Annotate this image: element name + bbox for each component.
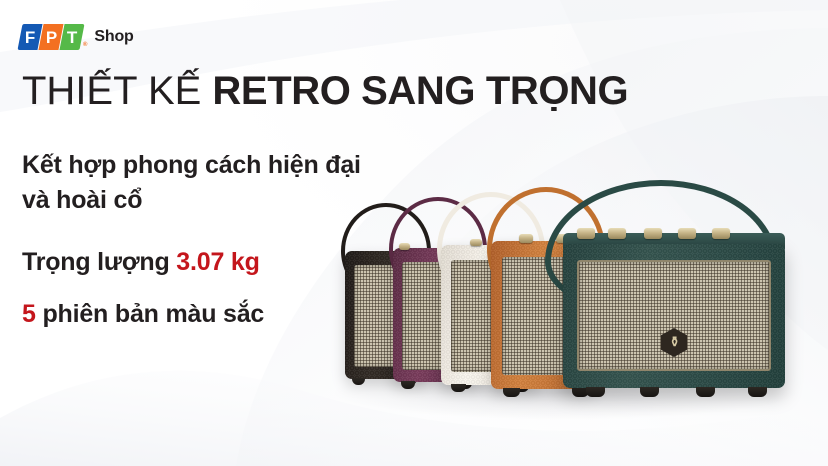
logo-letter-t: T: [59, 24, 84, 50]
spec-weight-value: 3.07 kg: [176, 248, 259, 276]
speaker-foot: [352, 378, 365, 385]
fpt-logo-marks: F P T ®: [20, 24, 87, 50]
subheading: Kết hợp phong cách hiện đại và hoài cổ: [22, 148, 361, 217]
speaker-foot: [696, 387, 715, 397]
spec-weight: Trọng lượng 3.07 kg: [22, 248, 260, 277]
registered-mark-icon: ®: [83, 42, 87, 48]
headline-light-part: THIẾT KẾ: [22, 69, 212, 113]
speaker-knob: [644, 228, 662, 239]
subheading-line-2: và hoài cổ: [22, 183, 361, 218]
speaker-knob: [712, 228, 730, 239]
speaker-foot: [586, 387, 605, 397]
speaker-knob: [608, 228, 626, 239]
speaker-knob: [577, 228, 595, 239]
badge-monogram: ⚱: [669, 334, 678, 351]
speaker-foot: [401, 381, 415, 389]
promo-banner: F P T ® Shop THIẾT KẾ RETRO SANG TRỌNG K…: [0, 0, 828, 466]
speaker-knob: [519, 234, 533, 243]
spec-variants: 5 phiên bản màu sắc: [22, 300, 264, 329]
spec-weight-label: Trọng lượng: [22, 248, 176, 276]
speaker-foot: [451, 384, 466, 392]
fpt-shop-logo[interactable]: F P T ® Shop: [20, 24, 134, 50]
speaker-knob: [399, 243, 410, 250]
page-title: THIẾT KẾ RETRO SANG TRỌNG: [22, 70, 628, 112]
speaker-knob: [470, 239, 482, 246]
speaker-foot: [503, 388, 520, 397]
spec-variants-label: phiên bản màu sắc: [36, 300, 264, 328]
headline-bold-part: RETRO SANG TRỌNG: [212, 69, 628, 113]
logo-shop-label: Shop: [94, 28, 133, 46]
speaker-foot: [640, 387, 659, 397]
speaker-body-green: ⚱: [563, 244, 785, 388]
spec-variants-count: 5: [22, 300, 36, 328]
speaker-foot: [748, 387, 767, 397]
subheading-line-1: Kết hợp phong cách hiện đại: [22, 148, 361, 183]
speaker-knob: [678, 228, 696, 239]
